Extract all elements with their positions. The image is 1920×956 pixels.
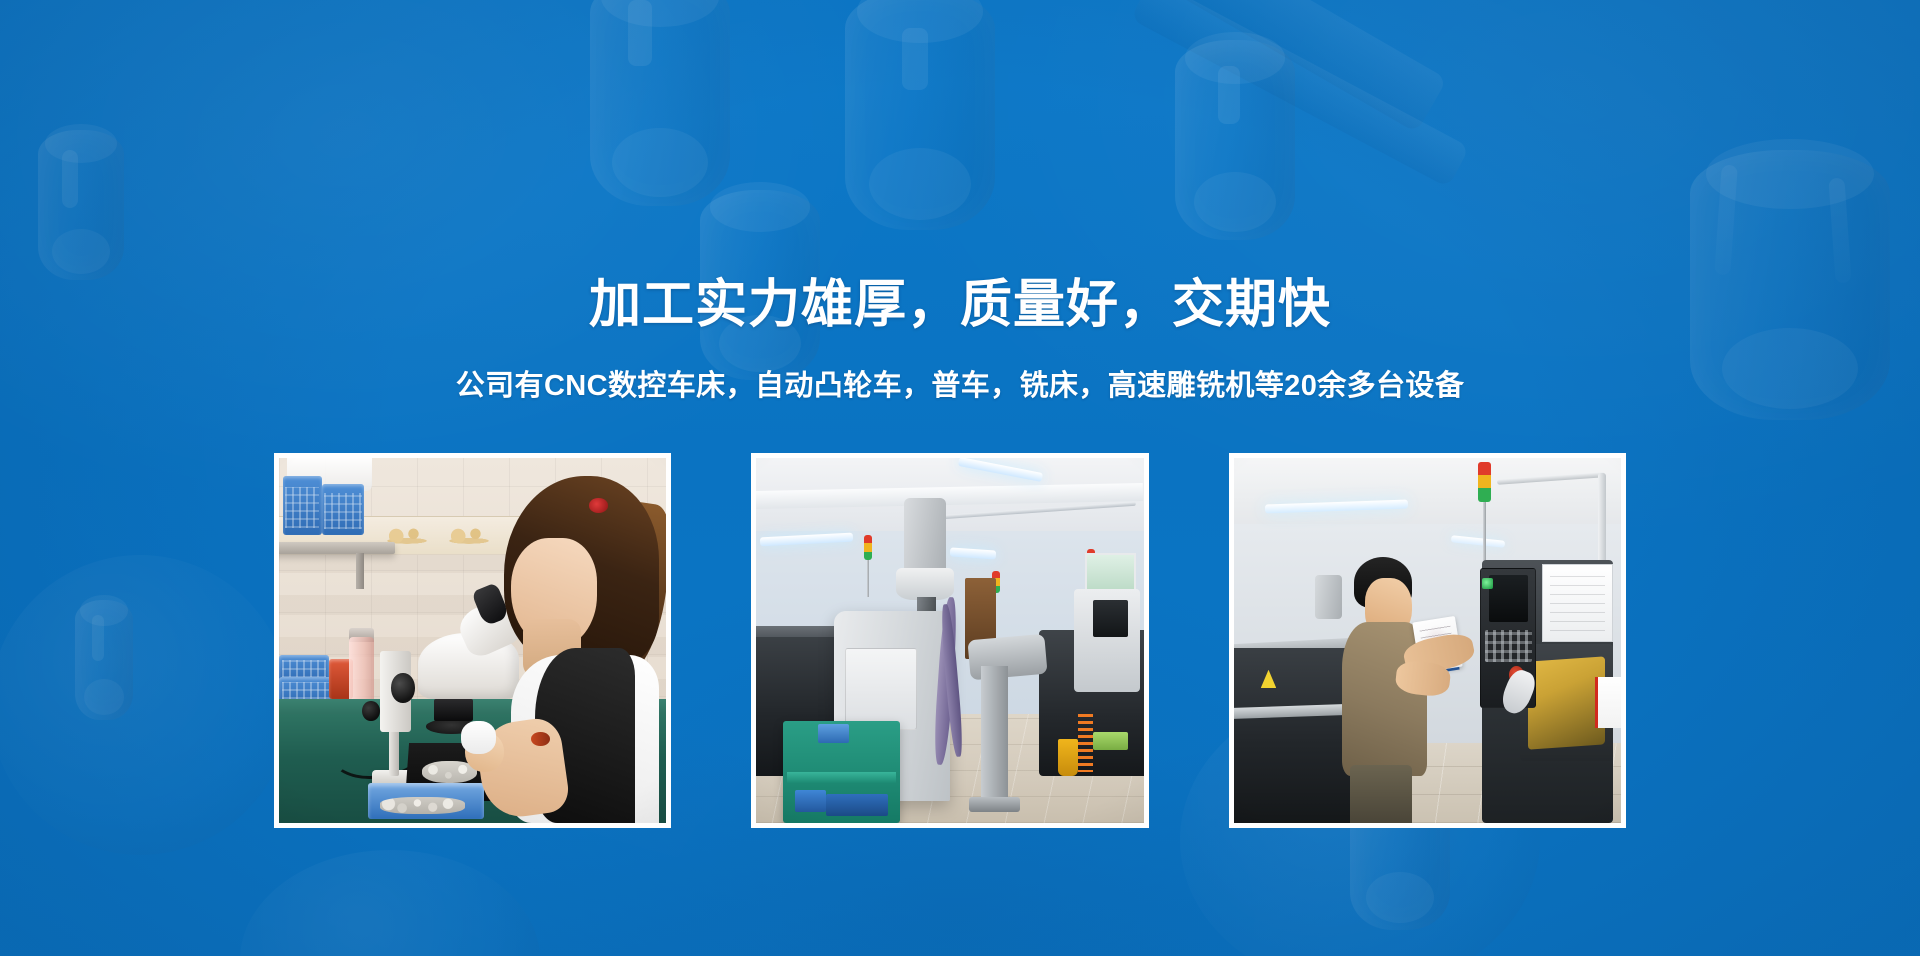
p1-microscope-zoom-knob [391, 673, 414, 702]
photo-1-image [279, 458, 666, 823]
p3-bar-feeder-machine [1234, 648, 1354, 823]
photo-2-image [756, 458, 1143, 823]
p3-extraction-duct [1315, 575, 1342, 619]
p2-tower-lamp-yellow [864, 543, 872, 552]
p1-worker-hair-tie [589, 498, 608, 513]
p1-wall-shelf [279, 542, 395, 554]
p3-process-sheet-board [1542, 564, 1614, 643]
p1-shelf-basket-2 [322, 484, 365, 535]
p1-parts-in-tray [380, 797, 465, 813]
p3-tower-lamp-red [1478, 462, 1491, 475]
p2-tool-cart-shelf [787, 772, 895, 783]
p3-tower-lamp-yellow [1478, 475, 1491, 488]
p3-cnc-status-light [1482, 578, 1494, 589]
p1-shelf-bracket [356, 553, 364, 590]
gallery-photo-2[interactable] [751, 453, 1148, 828]
photo-gallery [234, 437, 1666, 812]
p2-mist-collector-cylinder [904, 498, 947, 578]
p1-shelf-basket-1 [283, 476, 322, 534]
p3-light-tower [1478, 462, 1491, 502]
p1-tile-floral-motif-2 [442, 525, 496, 547]
p2-cart-bin-blue-top [818, 724, 849, 742]
p2-green-tray [1093, 732, 1128, 750]
company-capability-banner: 加工实力雄厚，质量好，交期快 公司有CNC数控车床，自动凸轮车，普车，铣床，高速… [0, 0, 1920, 956]
p3-cnc-keypad [1485, 630, 1531, 663]
p2-cart-bin-blue-lower [795, 790, 826, 812]
p2-chip-conveyor-base-plate [969, 797, 1019, 812]
banner-content: 加工实力雄厚，质量好，交期快 公司有CNC数控车床，自动凸轮车，普车，铣床，高速… [0, 0, 1920, 956]
p1-microscope-objective [434, 699, 473, 721]
p2-right-cnc-screen [1093, 600, 1128, 637]
gallery-photo-1[interactable] [274, 453, 671, 828]
p3-safety-notice-label [1595, 677, 1621, 728]
gallery-photo-3[interactable] [1229, 453, 1626, 828]
p2-tower-lamp-green [864, 552, 872, 561]
p1-microscope-focus-knob [362, 701, 379, 721]
banner-headline: 加工实力雄厚，质量好，交期快 [0, 277, 1920, 334]
p2-light-tower-1 [864, 535, 872, 561]
p2-main-cnc-access-panel [845, 648, 917, 730]
p3-tower-lamp-green [1478, 488, 1491, 501]
p2-tower-lamp-red [864, 535, 872, 544]
p2-chip-conveyor-stand [981, 666, 1008, 797]
banner-subheadline: 公司有CNC数控车床，自动凸轮车，普车，铣床，高速雕铣机等20余多台设备 [0, 369, 1920, 404]
p2-cart-tool-tray [826, 794, 888, 816]
p2-mist-collector-housing [896, 568, 954, 601]
photo-3-image [1234, 458, 1621, 823]
p2-orange-air-coil [1078, 714, 1093, 772]
p1-worker-finger-cot [461, 721, 496, 754]
p3-operator-trousers [1350, 765, 1412, 823]
p2-tower3-lamp-red [992, 571, 1000, 578]
p2-yellow-bucket [1058, 739, 1077, 776]
p3-cnc-display-screen [1489, 575, 1528, 622]
